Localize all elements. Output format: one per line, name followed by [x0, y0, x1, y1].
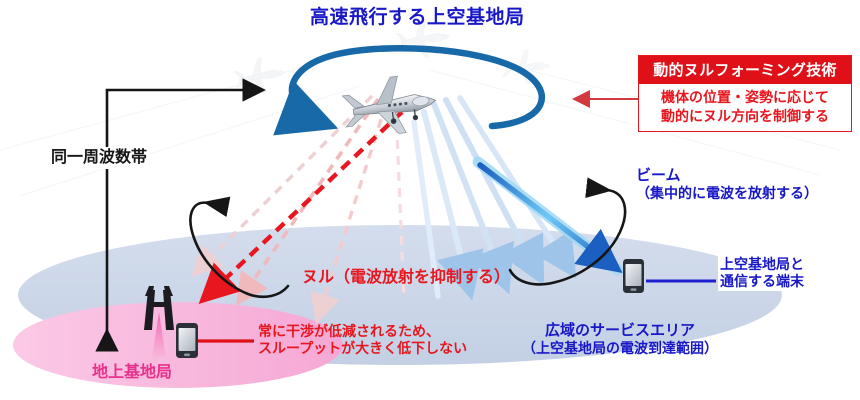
label-throughput-line1: 常に干渉が低減されるため、 — [258, 323, 467, 340]
smartphone-air-icon — [623, 259, 644, 293]
label-beam: ビーム （集中的に電波を放射する） — [636, 167, 818, 202]
diagram-canvas: 高速飛行する上空基地局 同一周波数帯 ビーム （集中的に電波を放射する） ヌル（… — [0, 0, 860, 400]
label-service-area-sub: （上空基地局の電波到達範囲） — [522, 340, 718, 357]
label-air-terminal-line2: 通信する端末 — [720, 273, 804, 290]
label-beam-sub: （集中的に電波を放射する） — [636, 185, 818, 202]
label-service-area-main: 広域のサービスエリア — [545, 322, 695, 339]
label-throughput-line2: スループットが大きく低下しない — [258, 340, 467, 357]
label-throughput: 常に干渉が低減されるため、 スループットが大きく低下しない — [258, 323, 467, 357]
page-title: 高速飛行する上空基地局 — [310, 6, 525, 29]
callout-header: 動的ヌルフォーミング技術 — [639, 56, 851, 84]
label-air-terminal-line1: 上空基地局と — [720, 256, 804, 273]
label-service-area: 広域のサービスエリア （上空基地局の電波到達範囲） — [522, 322, 718, 357]
label-beam-main: ビーム — [636, 167, 681, 184]
callout-body: 機体の位置・姿勢に応じて 動的にヌル方向を制御する — [639, 84, 851, 131]
callout-body-line2: 動的にヌル方向を制御する — [641, 107, 849, 126]
label-null: ヌル（電波放射を抑制する） — [302, 268, 510, 288]
callout-null-forming: 動的ヌルフォーミング技術 機体の位置・姿勢に応じて 動的にヌル方向を制御する — [638, 55, 852, 132]
label-ground-base-station: 地上基地局 — [92, 363, 172, 383]
label-same-frequency-band: 同一周波数帯 — [48, 147, 150, 169]
smartphone-ground-icon — [176, 323, 198, 358]
callout-body-line1: 機体の位置・姿勢に応じて — [641, 88, 849, 107]
label-air-terminal: 上空基地局と 通信する端末 — [718, 255, 806, 291]
